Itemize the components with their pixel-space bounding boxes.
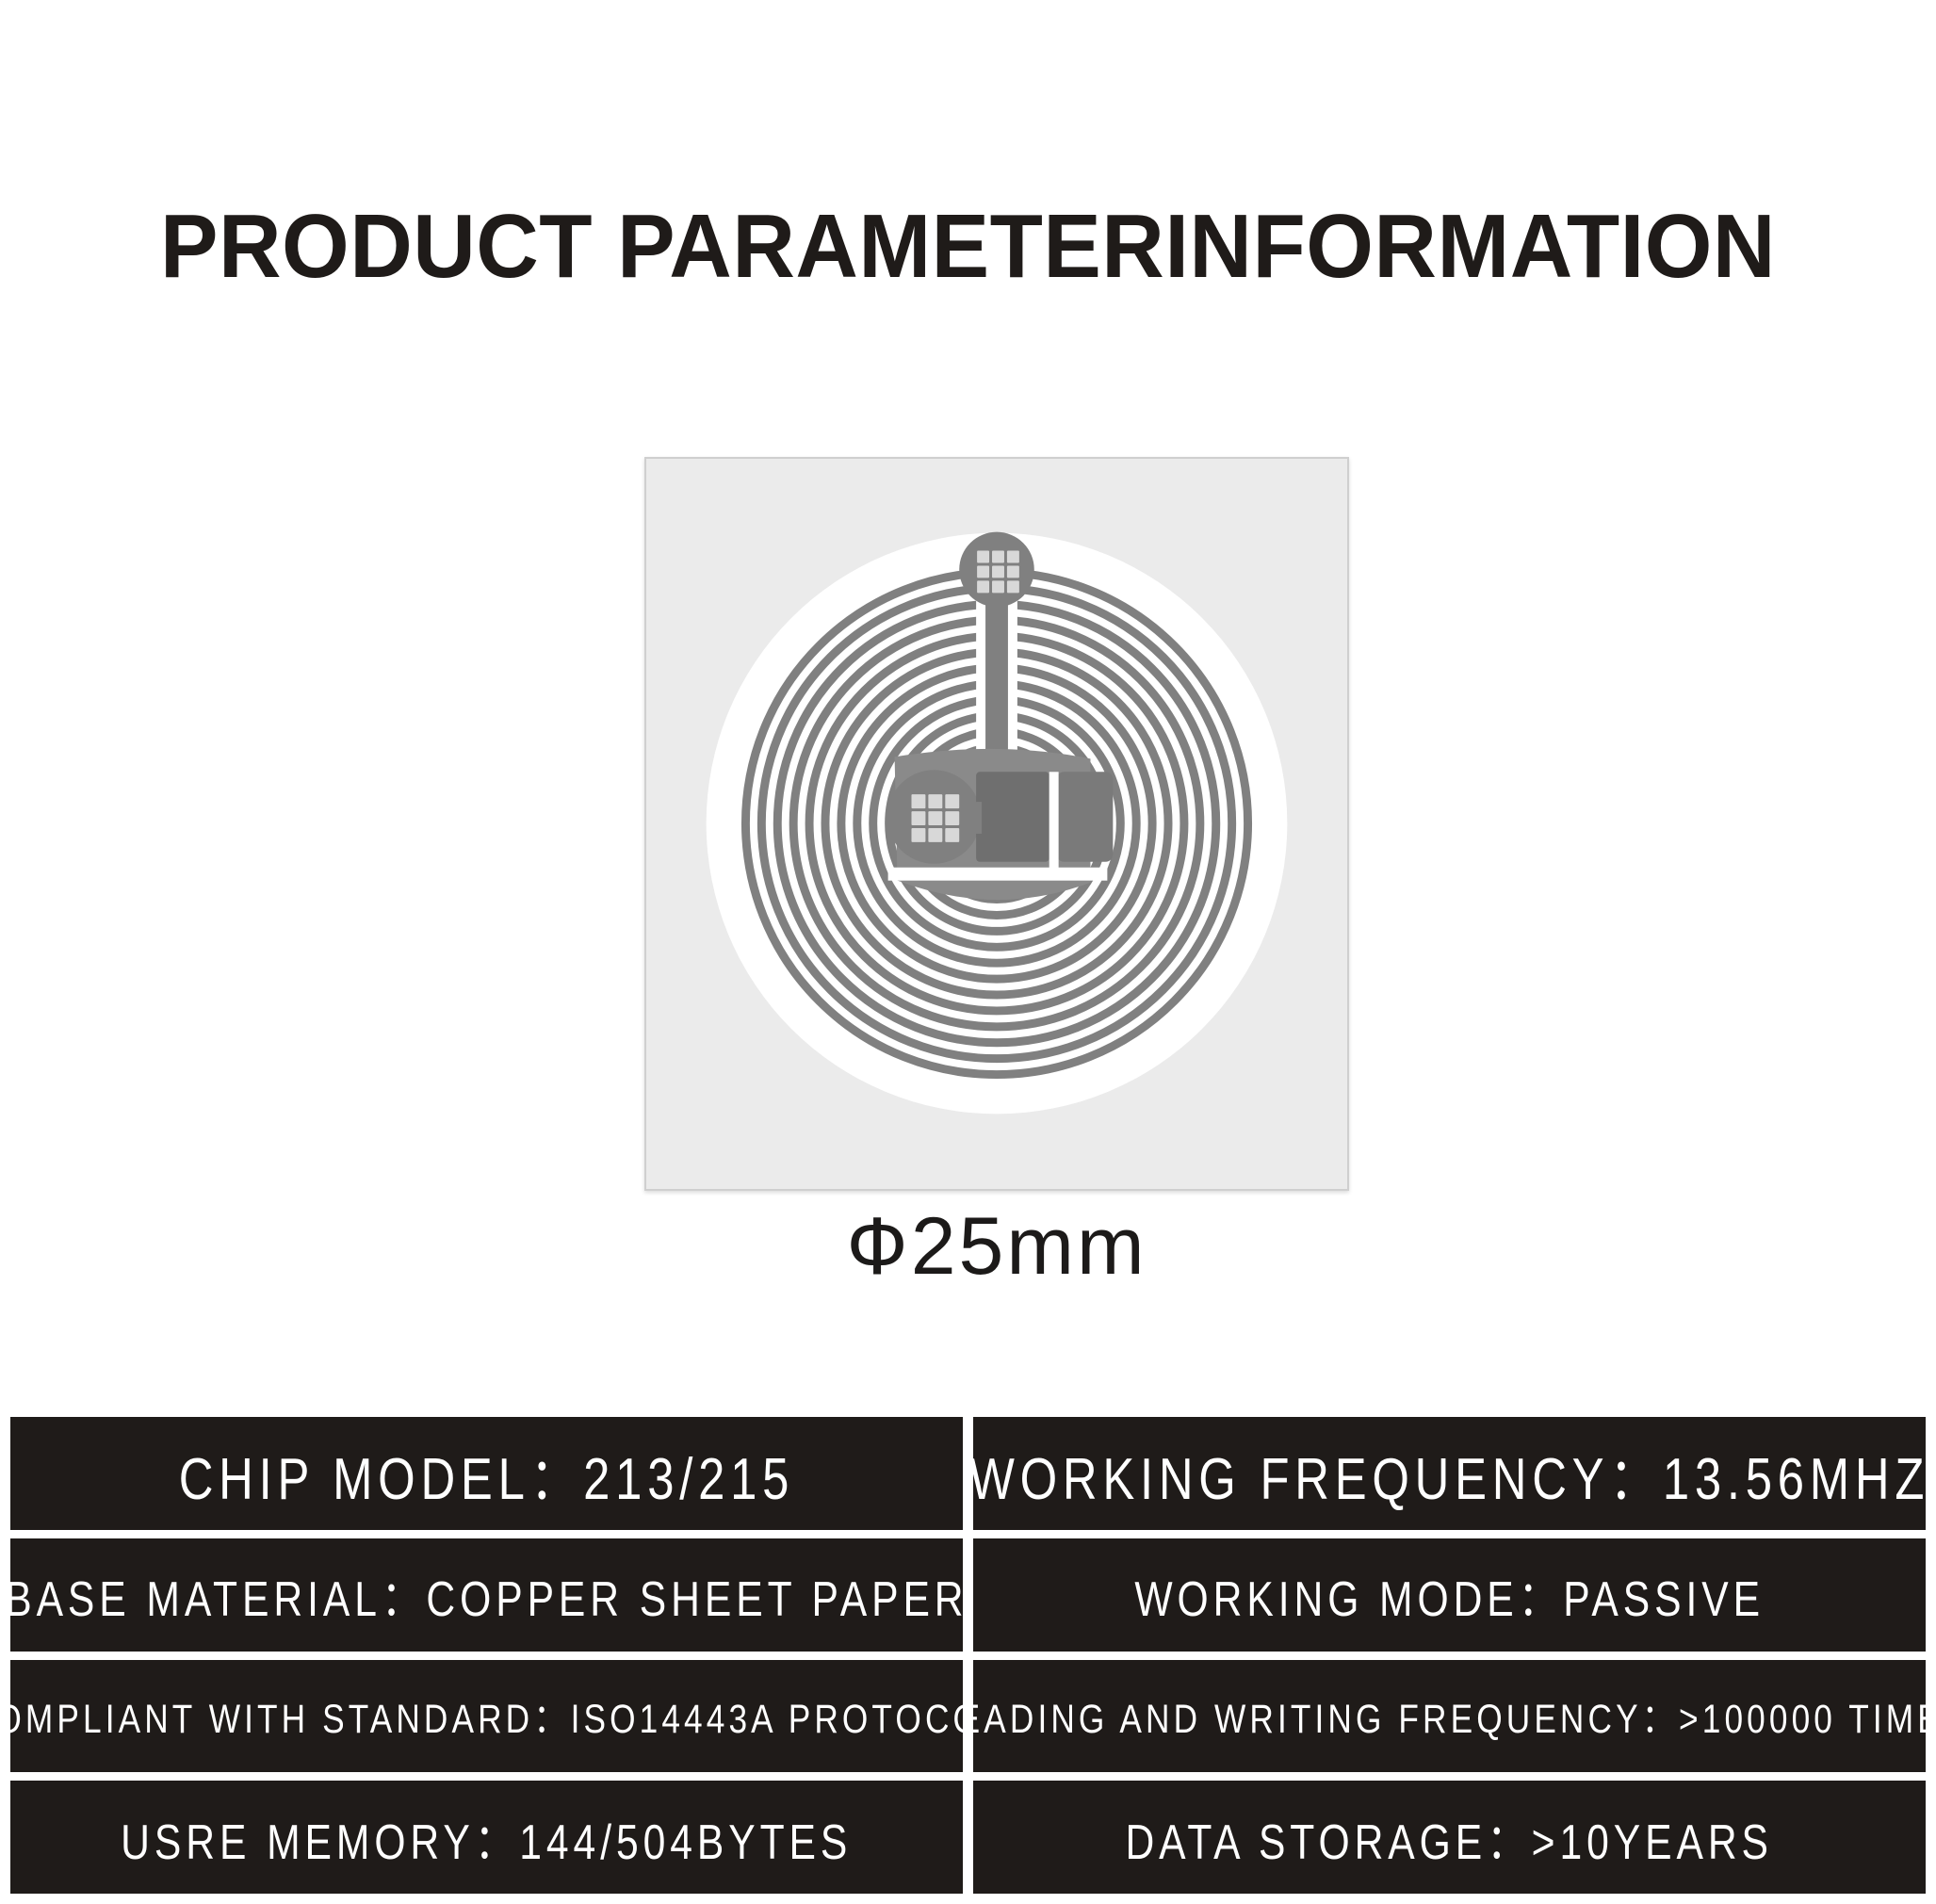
product-image-panel xyxy=(644,457,1349,1191)
nfc-tag-inlay-icon xyxy=(646,459,1347,1189)
spec-text: WORKING MODE：PASSIVE xyxy=(1134,1559,1765,1630)
spec-cell-working-mode: WORKING MODE：PASSIVE xyxy=(973,1538,1926,1652)
spec-text: CHIP MODEL：213/215 xyxy=(179,1431,794,1516)
page-title: PRODUCT PARAMETERINFORMATION xyxy=(39,200,1897,294)
spec-text: BASE MATERIAL：COPPER SHEET PAPER xyxy=(10,1559,963,1630)
spec-cell-data-storage: DATA STORAGE：>10YEARS xyxy=(973,1781,1926,1894)
spec-cell-working-frequency: WORKING FREQUENCY：13.56MHZ xyxy=(973,1417,1926,1530)
spec-text: READING AND WRITING FREQUENCY：>100000 TI… xyxy=(973,1686,1926,1745)
dimension-label: Ф25mm xyxy=(644,1195,1349,1298)
spec-cell-compliant-standard: COMPLIANT WITH STANDARD：ISO14443A PROTOC… xyxy=(10,1660,963,1773)
spec-cell-user-memory: USRE MEMORY：144/504BYTES xyxy=(10,1781,963,1894)
spec-text: WORKING FREQUENCY：13.56MHZ xyxy=(973,1431,1926,1516)
spec-text: COMPLIANT WITH STANDARD：ISO14443A PROTOC… xyxy=(10,1686,963,1745)
spec-text: USRE MEMORY：144/504BYTES xyxy=(121,1802,852,1873)
specification-table: CHIP MODEL：213/215 WORKING FREQUENCY：13.… xyxy=(10,1417,1926,1894)
spec-cell-read-write-frequency: READING AND WRITING FREQUENCY：>100000 TI… xyxy=(973,1660,1926,1773)
spec-cell-chip-model: CHIP MODEL：213/215 xyxy=(10,1417,963,1530)
product-figure xyxy=(644,457,1349,1191)
spec-text: DATA STORAGE：>10YEARS xyxy=(1126,1802,1773,1873)
spec-cell-base-material: BASE MATERIAL：COPPER SHEET PAPER xyxy=(10,1538,963,1652)
